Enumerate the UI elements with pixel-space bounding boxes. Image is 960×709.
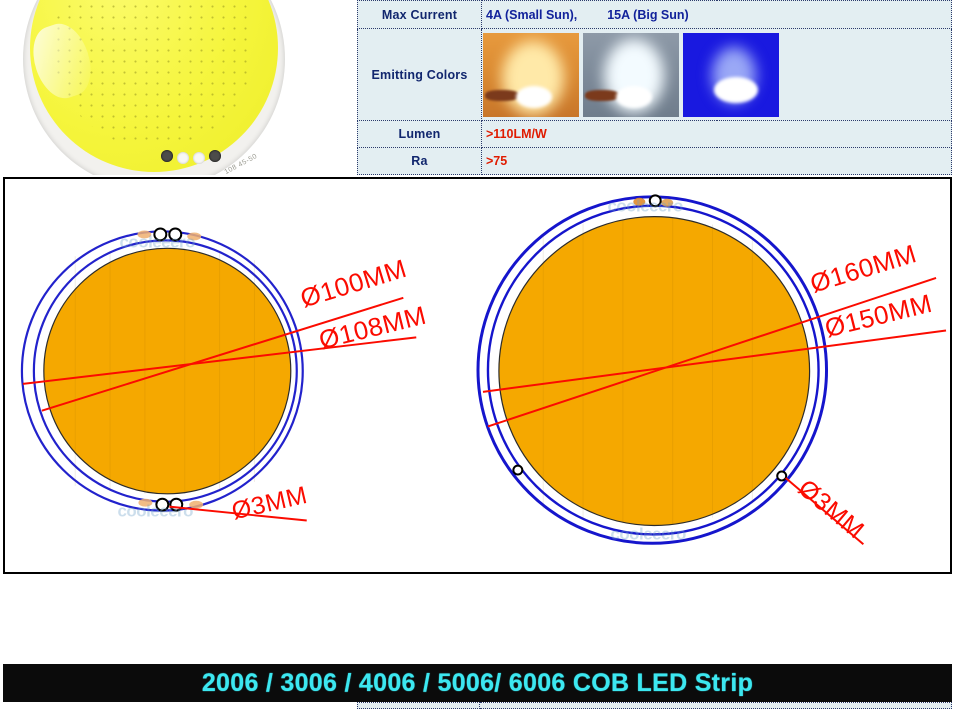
spec-label-emitting-colors: Emitting Colors <box>358 29 482 121</box>
spec-label-max-current: Max Current <box>358 1 482 29</box>
cool-emitter-spot <box>616 86 652 108</box>
table-row <box>3 703 952 709</box>
small-sun-dimension-drawing: cooleeero cooleeero cooleeero Ø100MM Ø10… <box>22 228 429 572</box>
cool-white-led-photo <box>583 33 679 117</box>
blue-emitter-spot <box>714 77 758 103</box>
product-photo-pane: 108 45-50 <box>0 0 356 175</box>
drawing-watermark-big-bottom: cooleeero <box>610 524 686 543</box>
solder-pad-positive <box>209 150 221 162</box>
next-table-photo-cell <box>3 703 357 709</box>
spec-label-lumen: Lumen <box>358 121 482 148</box>
solder-pad-negative <box>161 150 173 162</box>
drawing-watermark-small-top: cooleeero <box>120 232 196 251</box>
blue-led-photo <box>683 33 779 117</box>
spec-label-ra: Ra <box>358 148 482 175</box>
big-sun-hole-right <box>777 472 786 481</box>
big-sun-dimension-drawing: cooleeero cooleeero Ø160MM Ø150MM Ø3MM <box>478 195 946 544</box>
max-current-small-sun: 4A (Small Sun), <box>486 8 577 22</box>
drawing-watermark-big-top: cooleeero <box>607 197 683 216</box>
product-spec-page: 108 45-50 COB Max Current 4A (Small Sun)… <box>0 0 960 709</box>
small-sun-label-108mm: Ø108MM <box>316 302 429 355</box>
solder-pad-gap-2 <box>193 152 205 164</box>
dimension-drawing-svg: cooleeero cooleeero cooleeero Ø100MM Ø10… <box>5 179 950 572</box>
table-row-max-current: Max Current 4A (Small Sun),15A (Big Sun) <box>358 1 952 29</box>
table-row-emitting-colors: Emitting Colors <box>358 29 952 121</box>
table-row-ra: Ra >75 <box>358 148 952 175</box>
spec-value-ra: >75 <box>482 148 952 175</box>
warm-wire <box>485 90 519 101</box>
specification-table: Max Current 4A (Small Sun),15A (Big Sun)… <box>357 0 952 175</box>
spec-value-lumen: >110LM/W <box>482 121 952 148</box>
cool-wire <box>585 90 619 101</box>
board-code-label: 108 45-50 <box>223 153 258 175</box>
solder-pad-gap-1 <box>177 152 189 164</box>
spec-value-max-current: 4A (Small Sun),15A (Big Sun) <box>482 1 952 29</box>
next-table-label-cell <box>357 703 479 709</box>
next-table-value-cell <box>479 703 952 709</box>
table-row-lumen: Lumen >110LM/W <box>358 121 952 148</box>
big-sun-label-3mm: Ø3MM <box>793 475 869 545</box>
section-banner: 2006 / 3006 / 4006 / 5006/ 6006 COB LED … <box>3 664 952 702</box>
spec-value-emitting-colors <box>482 29 952 121</box>
warm-white-led-photo <box>483 33 579 117</box>
big-sun-hole-left <box>513 466 522 475</box>
emitting-color-thumbnails <box>482 31 951 119</box>
dimension-drawing-panel: cooleeero cooleeero cooleeero Ø100MM Ø10… <box>3 177 952 574</box>
top-section: 108 45-50 COB Max Current 4A (Small Sun)… <box>0 0 960 175</box>
drawing-watermark-small-bottom: cooleeero <box>118 502 194 521</box>
warm-emitter-spot <box>516 86 552 108</box>
cob-led-board-photo: 108 45-50 <box>23 0 285 175</box>
banner-title: 2006 / 3006 / 4006 / 5006/ 6006 COB LED … <box>202 669 753 698</box>
max-current-big-sun: 15A (Big Sun) <box>607 8 688 22</box>
next-section-table <box>3 702 952 709</box>
small-sun-label-100mm: Ø100MM <box>297 255 410 313</box>
